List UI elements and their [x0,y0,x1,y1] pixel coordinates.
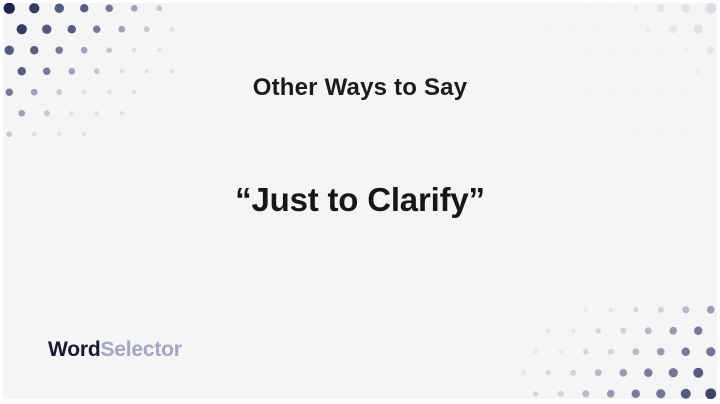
eyebrow-text: Other Ways to Say [3,75,717,101]
brand-logo-primary: Word [48,338,100,361]
brand-logo: WordSelector [48,337,182,362]
brand-logo-secondary: Selector [100,338,181,361]
slide-content: Other Ways to Say “Just to Clarify” Word… [3,3,717,399]
page-title: “Just to Clarify” [3,181,717,219]
slide-canvas: Other Ways to Say “Just to Clarify” Word… [3,3,717,399]
